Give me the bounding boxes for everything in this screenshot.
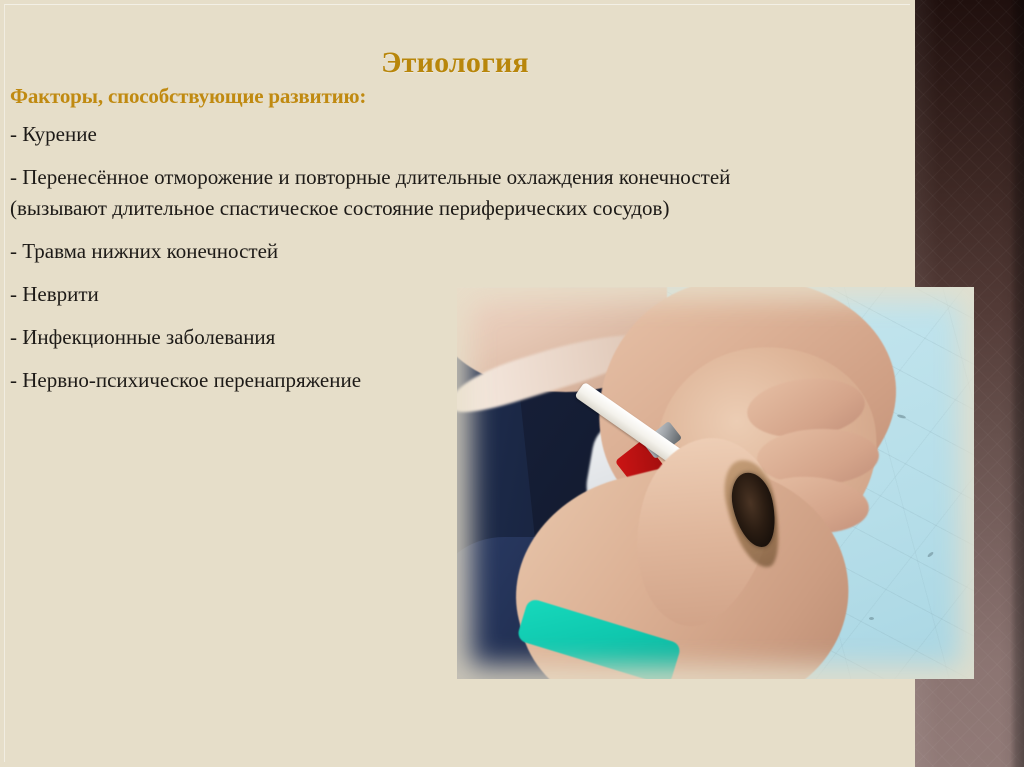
slide-photo <box>457 287 974 679</box>
photo-composition <box>457 287 974 679</box>
presentation-slide: Этиология Факторы, способствующие развит… <box>0 0 1024 767</box>
panel-right-edge-shadow <box>1010 0 1024 767</box>
bullet-item-frostbite-note: (вызывают длительное спастическое состоя… <box>10 198 900 219</box>
photo-background-speck <box>869 617 874 620</box>
slide-title: Этиология <box>0 46 910 80</box>
bullet-item-trauma: - Травма нижних конечностей <box>10 241 900 262</box>
bullet-item-smoking: - Курение <box>10 124 900 145</box>
body-subheading: Факторы, способствующие развитию: <box>10 86 900 107</box>
bullet-item-frostbite: - Перенесённое отморожение и повторные д… <box>10 167 900 188</box>
